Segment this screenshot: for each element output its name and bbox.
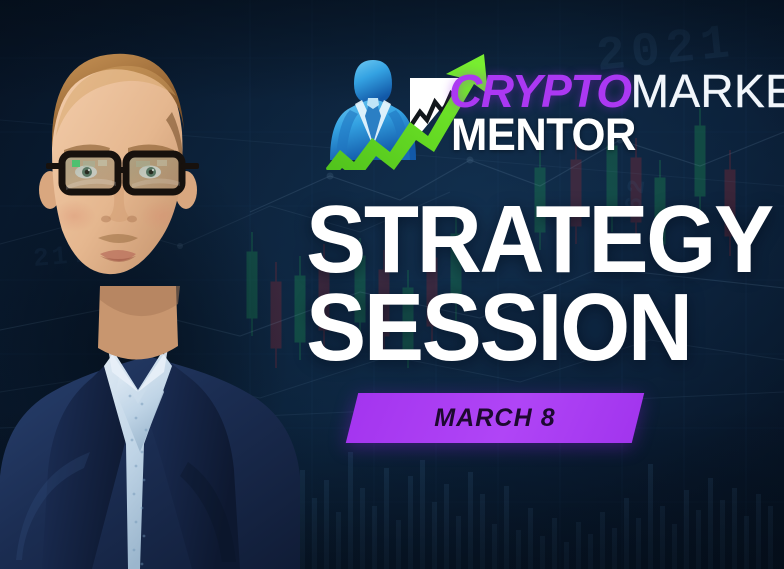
promo-banner: 2021 21. 62: [0, 0, 784, 569]
logo-word-mentor: MENTOR: [451, 112, 636, 157]
logo-word-market: MARKET: [631, 65, 784, 117]
presenter-suit: [0, 348, 300, 569]
date-banner-label: MARCH 8: [352, 393, 638, 443]
presenter-photo: [0, 0, 302, 569]
logo-row-primary: CRYPTOMARKET: [449, 68, 784, 114]
headline-line-1: STRATEGY: [306, 196, 748, 284]
headline-block: STRATEGY SESSION: [306, 196, 776, 373]
logo-wordmark: CRYPTOMARKET MENTOR: [449, 68, 779, 164]
date-banner: MARCH 8: [346, 393, 644, 443]
logo-lockup: CRYPTOMARKET MENTOR: [306, 48, 776, 170]
headline-line-2: SESSION: [306, 284, 748, 372]
logo-row-secondary: MENTOR: [451, 112, 642, 157]
